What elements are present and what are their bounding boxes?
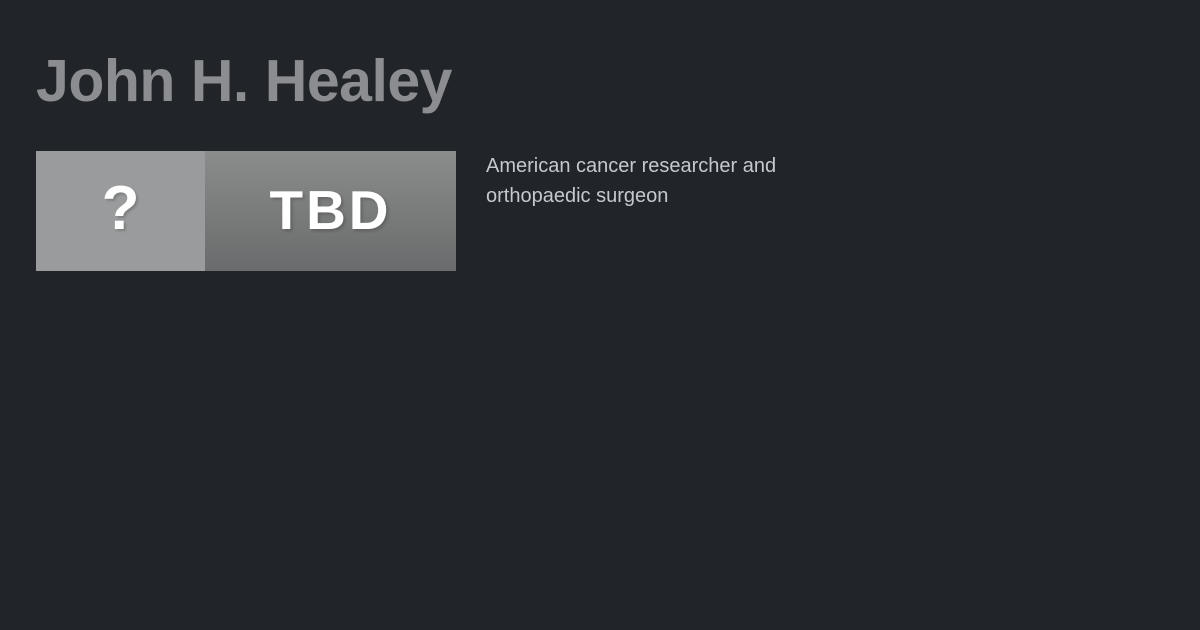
thumbnail-placeholder[interactable]: ? TBD xyxy=(36,151,456,271)
preview-card: John H. Healey ? TBD American cancer res… xyxy=(0,0,1200,630)
placeholder-tbd-panel: TBD xyxy=(205,151,456,271)
placeholder-question-panel: ? xyxy=(36,151,205,271)
placeholder-tbd-label: TBD xyxy=(269,183,391,238)
page-description: American cancer researcher and orthopaed… xyxy=(486,151,816,211)
content-row: ? TBD American cancer researcher and ort… xyxy=(36,151,1164,271)
page-title: John H. Healey xyxy=(36,48,452,114)
question-mark-icon: ? xyxy=(102,178,140,240)
